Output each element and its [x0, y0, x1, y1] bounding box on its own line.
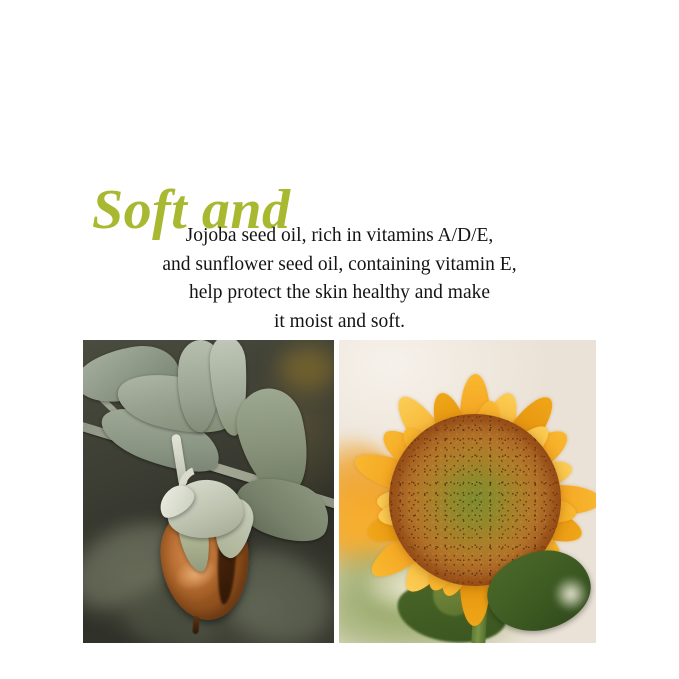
description-line-4: it moist and soft.	[64, 308, 615, 337]
description-text: Jojoba seed oil, rich in vitamins A/D/E,…	[64, 222, 615, 337]
sunflower-light-bokeh	[553, 576, 589, 612]
poster-page: Soft and moist sunscreen Jojoba seed oil…	[0, 0, 679, 679]
description-line-1: Jojoba seed oil, rich in vitamins A/D/E,	[64, 222, 615, 251]
sunflower-photo	[339, 340, 596, 643]
description-line-3: help protect the skin healthy and make	[64, 279, 615, 308]
jojoba-bokeh-1	[279, 346, 334, 390]
jojoba-nut-tip	[192, 616, 199, 634]
jojoba-seed-photo	[83, 340, 334, 643]
image-strip	[83, 340, 596, 643]
description-line-2: and sunflower seed oil, containing vitam…	[64, 251, 615, 280]
